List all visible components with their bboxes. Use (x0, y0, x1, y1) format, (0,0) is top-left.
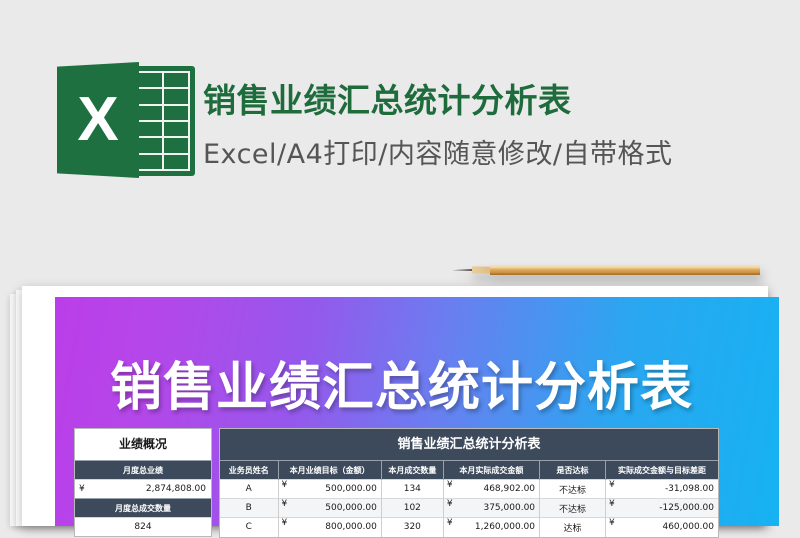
cell-target-met: 达标 (540, 518, 606, 537)
cell-value: 375,000.00 (483, 503, 535, 513)
cell-actual-amount: ¥ 468,902.00 (443, 480, 539, 499)
table-row: C ¥ 800,000.00 320 ¥ 1,260,000.00 达标 (220, 518, 718, 537)
cell-value: 468,902.00 (483, 484, 535, 494)
pencil-icon (450, 262, 760, 278)
cell-target-met: 不达标 (540, 499, 606, 518)
currency-symbol: ¥ (79, 480, 85, 499)
cell-gap: ¥ -125,000.00 (606, 499, 718, 518)
table-header-row: 业务员姓名 本月业绩目标（金额） 本月成交数量 本月实际成交金额 是否达标 实际… (220, 461, 718, 480)
cell-value: 800,000.00 (325, 522, 377, 532)
column-header-salesperson: 业务员姓名 (220, 461, 278, 480)
cell-value: -31,098.00 (665, 484, 714, 494)
cell-value: 1,260,000.00 (475, 522, 535, 532)
cell-actual-amount: ¥ 375,000.00 (443, 499, 539, 518)
currency-symbol: ¥ (282, 480, 288, 490)
cell-actual-amount: ¥ 1,260,000.00 (443, 518, 539, 537)
summary-row-value-total-performance: ¥ 2,874,808.00 (75, 479, 211, 498)
cell-salesperson: A (220, 480, 278, 499)
excel-logo-letter: X (57, 62, 139, 178)
column-header-monthly-target: 本月业绩目标（金额） (278, 461, 381, 480)
table-title: 销售业绩汇总统计分析表 (220, 429, 718, 460)
excel-logo: X (57, 58, 195, 182)
cell-deal-count: 134 (381, 480, 443, 499)
cell-value: 460,000.00 (662, 522, 714, 532)
cell-value: -125,000.00 (659, 503, 714, 513)
excel-logo-spreadsheet-grid (131, 66, 195, 176)
spreadsheet-preview: 业绩概况 月度总业绩 ¥ 2,874,808.00 月度总成交数量 824 销售… (74, 428, 719, 528)
currency-symbol: ¥ (447, 499, 453, 509)
page-title: 销售业绩汇总统计分析表 (203, 74, 572, 122)
currency-symbol: ¥ (447, 480, 453, 490)
summary-row-header-total-performance: 月度总业绩 (75, 460, 211, 479)
cell-deal-count: 320 (381, 518, 443, 537)
performance-summary-panel: 业绩概况 月度总业绩 ¥ 2,874,808.00 月度总成交数量 824 (74, 428, 212, 537)
cell-salesperson: B (220, 499, 278, 518)
currency-symbol: ¥ (282, 518, 288, 528)
document-preview-stack: 销售业绩汇总统计分析表 业绩概况 月度总业绩 ¥ 2,874,808.00 月度… (0, 286, 800, 526)
cell-monthly-target: ¥ 800,000.00 (278, 518, 381, 537)
cell-monthly-target: ¥ 500,000.00 (278, 480, 381, 499)
cell-salesperson: C (220, 518, 278, 537)
sales-performance-table: 销售业绩汇总统计分析表 业务员姓名 本月业绩目标（金额） 本月成交数量 本月实际… (219, 428, 719, 538)
column-header-target-met: 是否达标 (540, 461, 606, 480)
page-subtitle: Excel/A4打印/内容随意修改/自带格式 (203, 132, 672, 171)
cell-value: 500,000.00 (325, 484, 377, 494)
cell-target-met: 不达标 (540, 480, 606, 499)
currency-symbol: ¥ (609, 518, 615, 528)
table-row: B ¥ 500,000.00 102 ¥ 375,000.00 不达标 (220, 499, 718, 518)
cell-deal-count: 102 (381, 499, 443, 518)
summary-value-text: 2,874,808.00 (146, 484, 206, 494)
promo-header: X 销售业绩汇总统计分析表 Excel/A4打印/内容随意修改/自带格式 (0, 0, 800, 240)
currency-symbol: ¥ (447, 518, 453, 528)
cell-monthly-target: ¥ 500,000.00 (278, 499, 381, 518)
summary-row-header-total-quantity: 月度总成交数量 (75, 498, 211, 517)
summary-row-value-total-quantity: 824 (75, 517, 211, 536)
currency-symbol: ¥ (282, 499, 288, 509)
document-preview-card[interactable]: 销售业绩汇总统计分析表 业绩概况 月度总业绩 ¥ 2,874,808.00 月度… (22, 286, 768, 526)
excel-logo-grid-cells (136, 71, 190, 171)
cell-gap: ¥ -31,098.00 (606, 480, 718, 499)
column-header-gap: 实际成交金额与目标差距 (606, 461, 718, 480)
currency-symbol: ¥ (609, 499, 615, 509)
currency-symbol: ¥ (609, 480, 615, 490)
table: 业务员姓名 本月业绩目标（金额） 本月成交数量 本月实际成交金额 是否达标 实际… (220, 460, 718, 537)
cell-value: 500,000.00 (325, 503, 377, 513)
banner-title: 销售业绩汇总统计分析表 (110, 345, 693, 420)
column-header-actual-amount: 本月实际成交金额 (443, 461, 539, 480)
summary-title: 业绩概况 (75, 429, 211, 460)
table-row: A ¥ 500,000.00 134 ¥ 468,902.00 不达标 (220, 480, 718, 499)
column-header-deal-count: 本月成交数量 (381, 461, 443, 480)
cell-gap: ¥ 460,000.00 (606, 518, 718, 537)
